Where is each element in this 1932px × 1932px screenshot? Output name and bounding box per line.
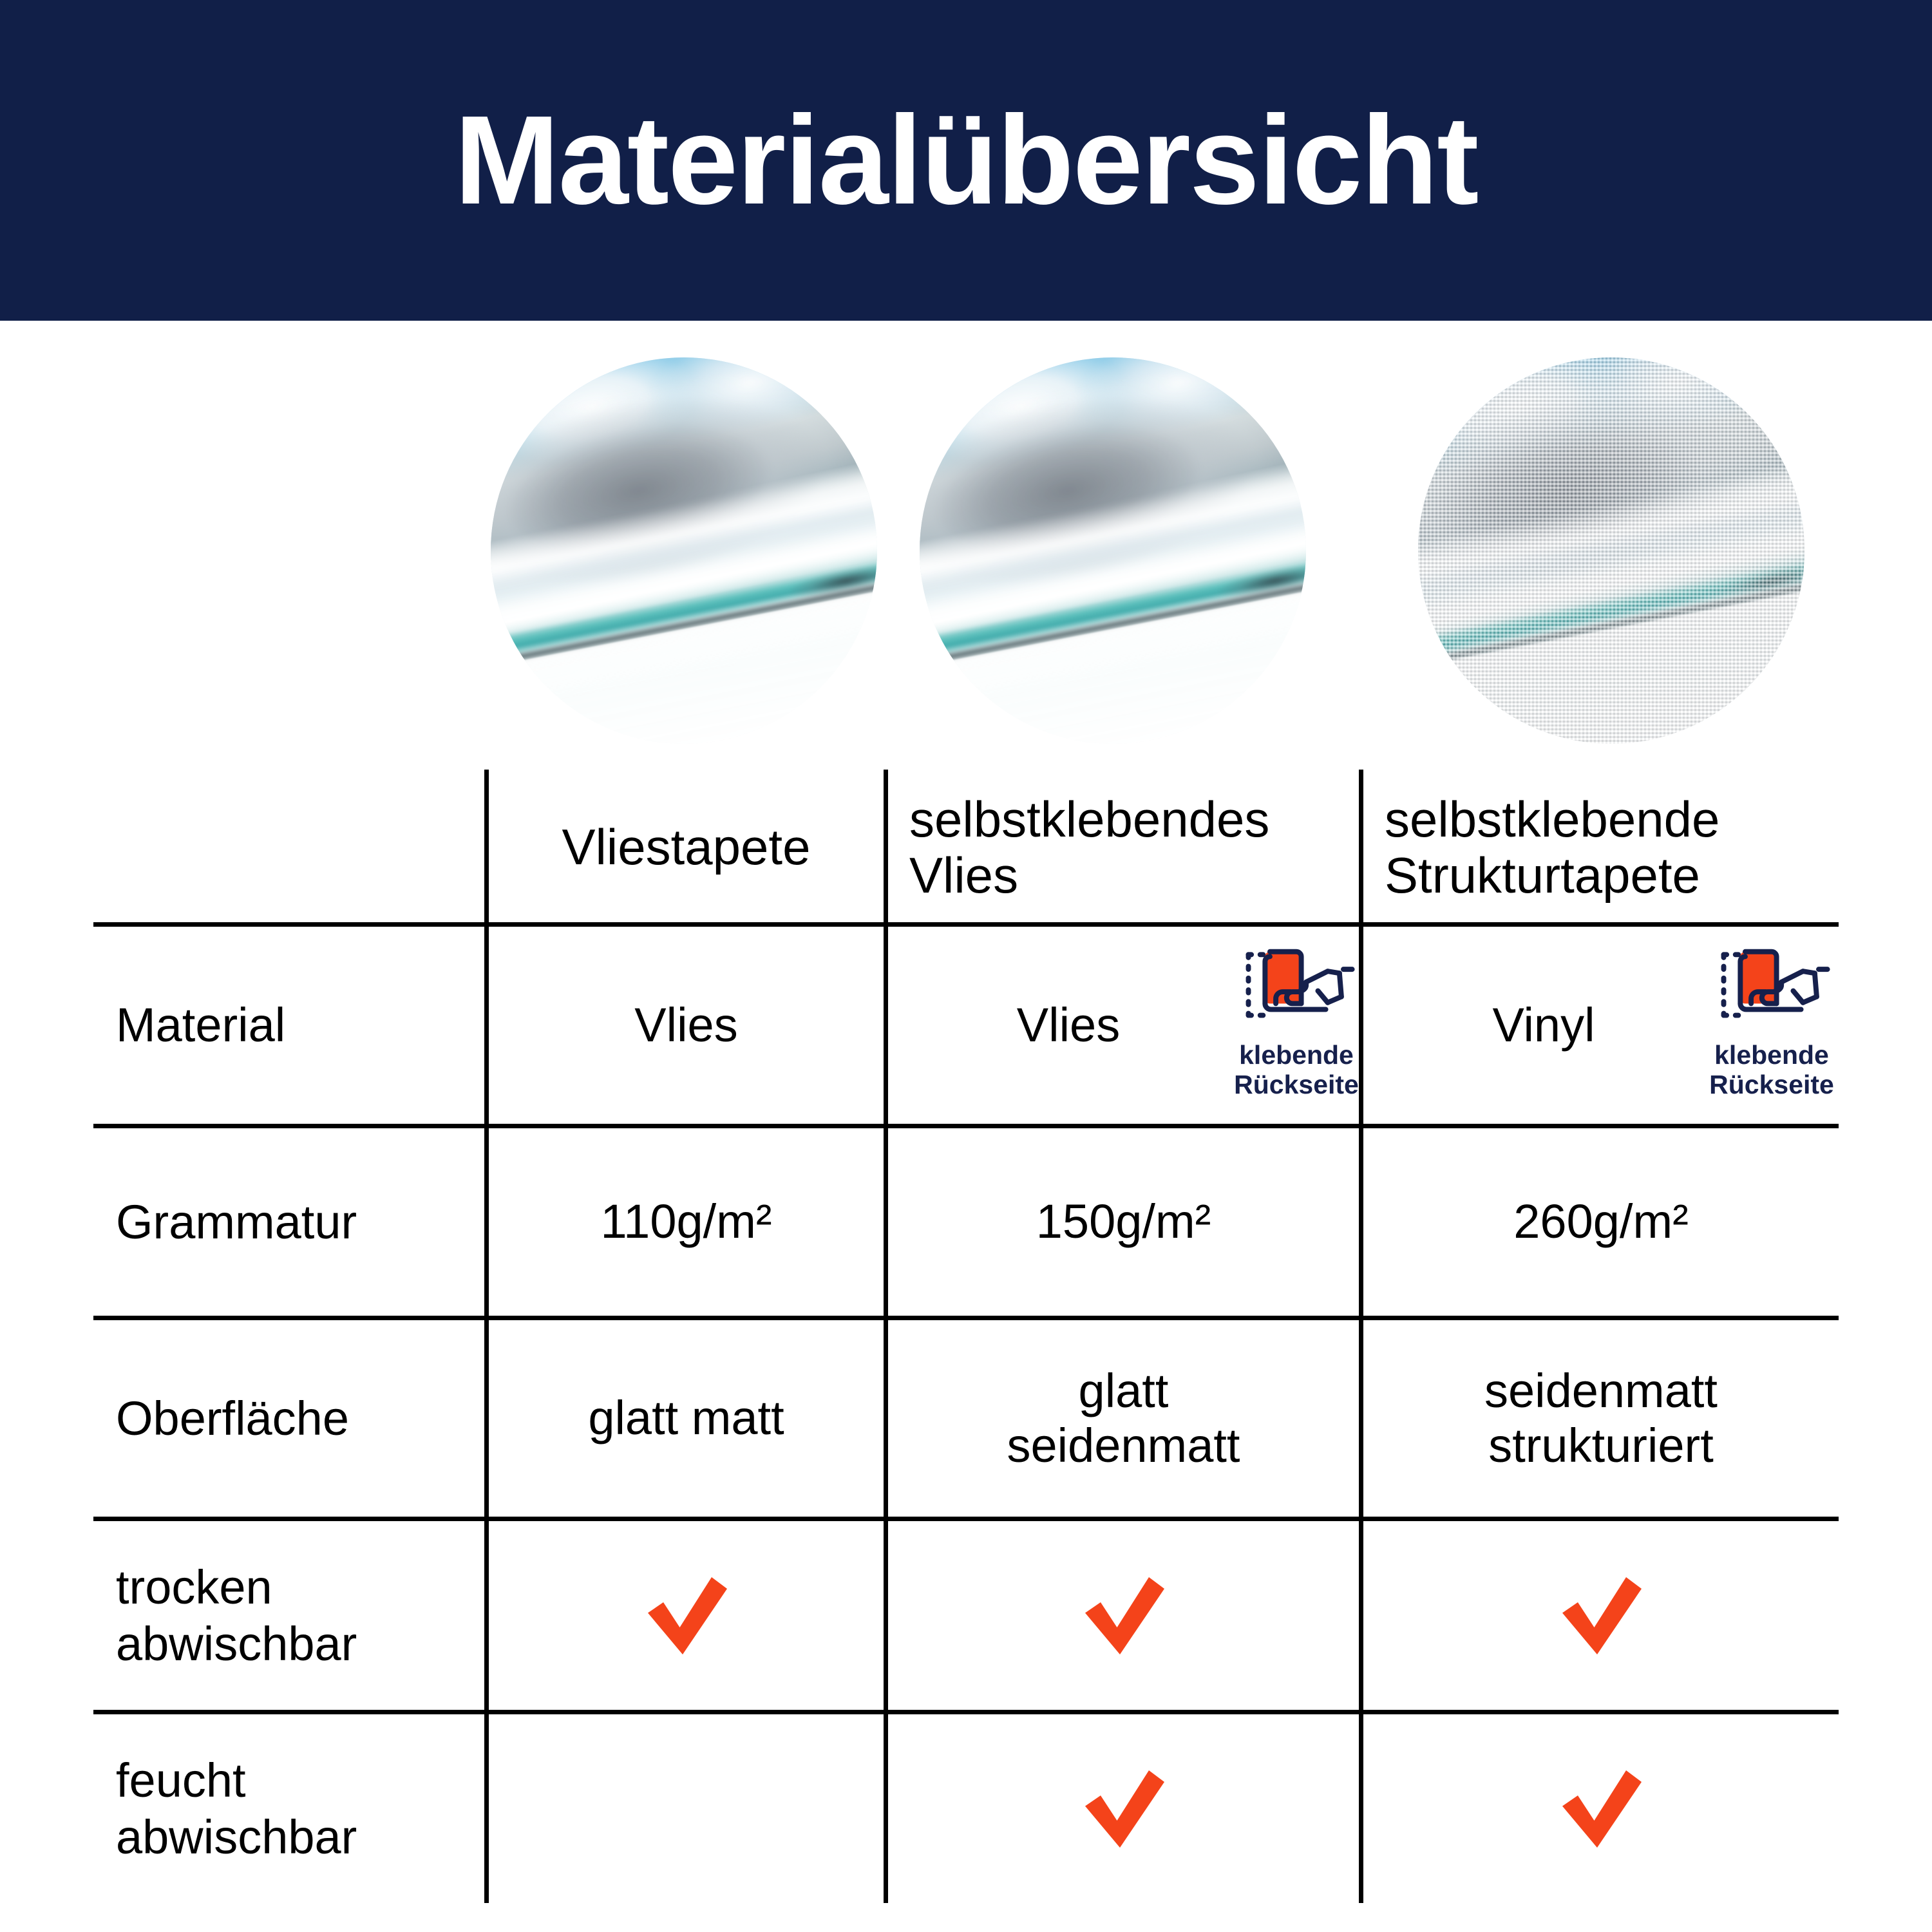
cell-feucht-selbstklebende-strukturtapete: [1363, 1714, 1839, 1903]
material-comparison-table: Vliestapete selbstklebendes Vlies selbst…: [0, 0, 1932, 1932]
table-column-divider-1: [484, 770, 489, 1903]
table-rule-header: [93, 922, 1839, 927]
table-rule-material: [93, 1124, 1839, 1128]
cell-trocken-selbstklebende-strukturtapete: [1363, 1521, 1839, 1710]
checkmark-icon: [1553, 1761, 1649, 1857]
column-header-label: selbstklebende Strukturtapete: [1385, 791, 1719, 904]
cell-material-vliestapete: Vlies: [489, 927, 884, 1124]
row-label-material: Material: [116, 927, 484, 1124]
column-header-selbstklebendes-vlies: selbstklebendes Vlies: [909, 773, 1359, 922]
cell-feucht-selbstklebendes-vlies: [888, 1714, 1359, 1903]
column-header-selbstklebende-strukturtapete: selbstklebende Strukturtapete: [1385, 773, 1855, 922]
cell-material-selbstklebende-strukturtapete: Vinyl: [1363, 927, 1724, 1124]
row-label-feucht-abwischbar: feucht abwischbar: [116, 1714, 484, 1903]
cell-trocken-vliestapete: [489, 1521, 884, 1710]
adhesive-backing-badge: klebende Rückseite: [1691, 939, 1852, 1100]
adhesive-backing-label: klebende Rückseite: [1709, 1041, 1834, 1100]
cell-material-selbstklebendes-vlies: Vlies: [888, 927, 1249, 1124]
peel-adhesive-backing-icon: [1232, 939, 1361, 1037]
cell-oberflaeche-selbstklebendes-vlies: glatt seidenmatt: [888, 1320, 1359, 1517]
adhesive-backing-label: klebende Rückseite: [1234, 1041, 1359, 1100]
table-column-divider-2: [884, 770, 888, 1903]
cell-oberflaeche-vliestapete: glatt matt: [489, 1320, 884, 1517]
cell-feucht-vliestapete: [489, 1714, 884, 1903]
checkmark-icon: [1075, 1761, 1172, 1857]
table-rule-oberflaeche: [93, 1517, 1839, 1521]
column-header-vliestapete: Vliestapete: [489, 773, 884, 922]
row-label-grammatur: Grammatur: [116, 1128, 484, 1316]
column-header-label: Vliestapete: [562, 819, 811, 875]
checkmark-icon: [1553, 1567, 1649, 1664]
column-header-label: selbstklebendes Vlies: [909, 791, 1269, 904]
table-rule-trocken: [93, 1710, 1839, 1714]
checkmark-icon: [1075, 1567, 1172, 1664]
table-rule-grammatur: [93, 1316, 1839, 1320]
row-label-trocken-abwischbar: trocken abwischbar: [116, 1521, 484, 1710]
row-label-oberflaeche: Oberfläche: [116, 1320, 484, 1517]
adhesive-backing-badge: klebende Rückseite: [1216, 939, 1377, 1100]
cell-grammatur-selbstklebende-strukturtapete: 260g/m²: [1363, 1128, 1839, 1316]
checkmark-icon: [638, 1567, 735, 1664]
cell-oberflaeche-selbstklebende-strukturtapete: seidenmatt strukturiert: [1363, 1320, 1839, 1517]
cell-grammatur-vliestapete: 110g/m²: [489, 1128, 884, 1316]
cell-trocken-selbstklebendes-vlies: [888, 1521, 1359, 1710]
cell-grammatur-selbstklebendes-vlies: 150g/m²: [888, 1128, 1359, 1316]
peel-adhesive-backing-icon: [1707, 939, 1836, 1037]
